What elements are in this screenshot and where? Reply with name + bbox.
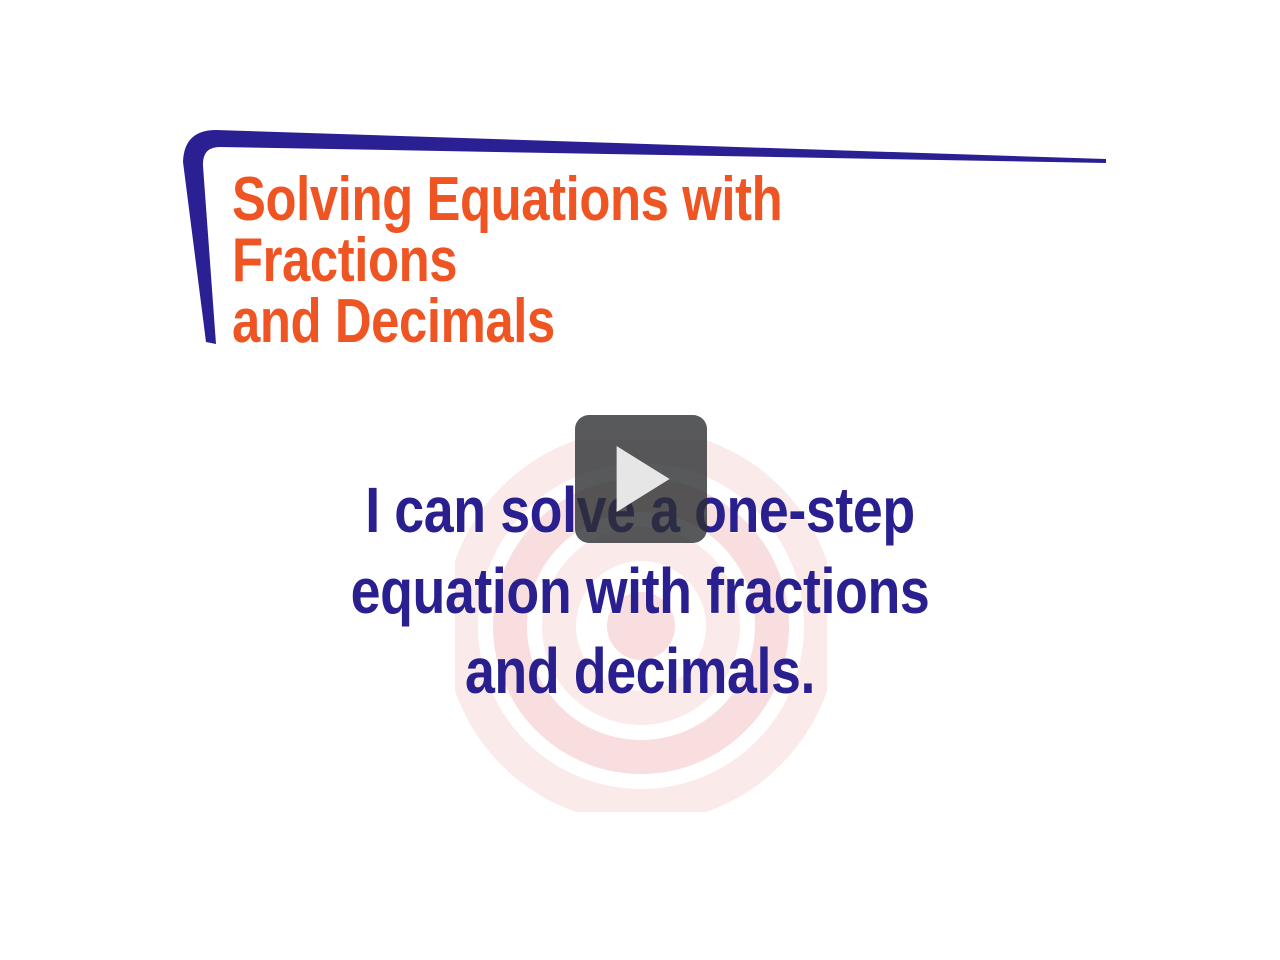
video-slide: Solving Equations with Fractions and Dec…: [0, 0, 1280, 960]
play-triangle-icon: [617, 446, 670, 512]
play-button[interactable]: [575, 415, 707, 543]
page-title: Solving Equations with Fractions and Dec…: [232, 170, 913, 352]
title-block: Solving Equations with Fractions and Dec…: [176, 122, 1106, 347]
